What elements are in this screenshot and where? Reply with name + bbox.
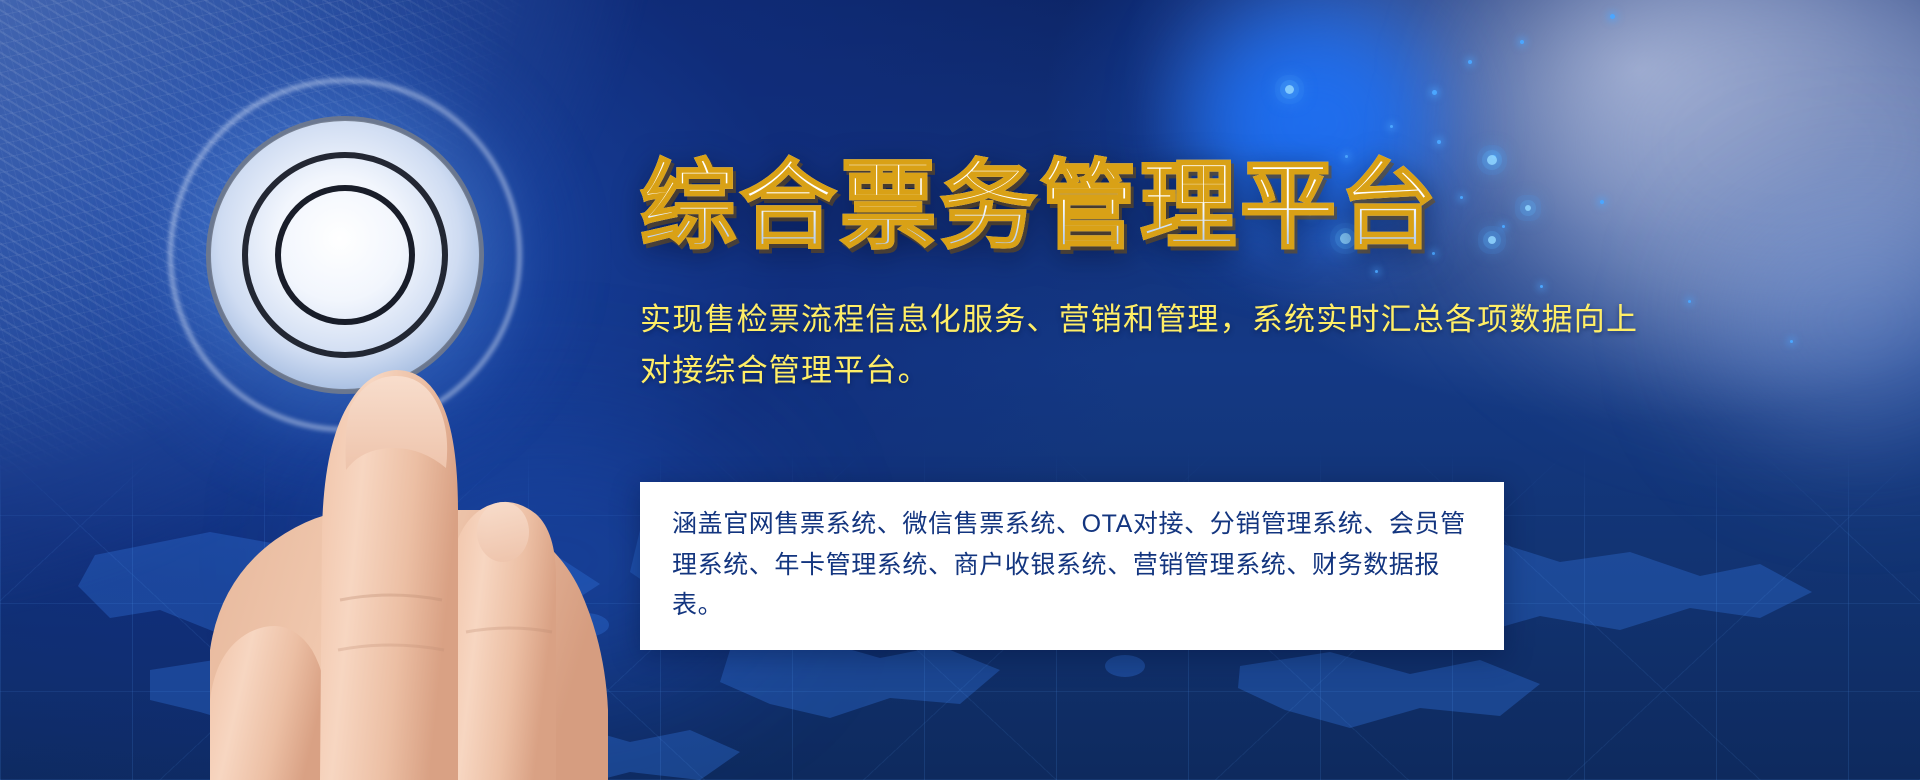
feature-list-box: 涵盖官网售票系统、微信售票系统、OTA对接、分销管理系统、会员管理系统、年卡管理… (640, 482, 1504, 650)
pointing-hand-icon (150, 180, 620, 780)
banner-text-block: 综合票务管理平台 实现售检票流程信息化服务、营销和管理，系统实时汇总各项数据向上… (640, 150, 1680, 396)
banner-subtitle: 实现售检票流程信息化服务、营销和管理，系统实时汇总各项数据向上对接综合管理平台。 (640, 295, 1660, 395)
feature-list-text: 涵盖官网售票系统、微信售票系统、OTA对接、分销管理系统、会员管理系统、年卡管理… (672, 504, 1472, 626)
page-title: 综合票务管理平台 (640, 150, 1680, 261)
hero-banner: 综合票务管理平台 实现售检票流程信息化服务、营销和管理，系统实时汇总各项数据向上… (0, 0, 1920, 780)
light-blob-soft (1715, 190, 1920, 450)
